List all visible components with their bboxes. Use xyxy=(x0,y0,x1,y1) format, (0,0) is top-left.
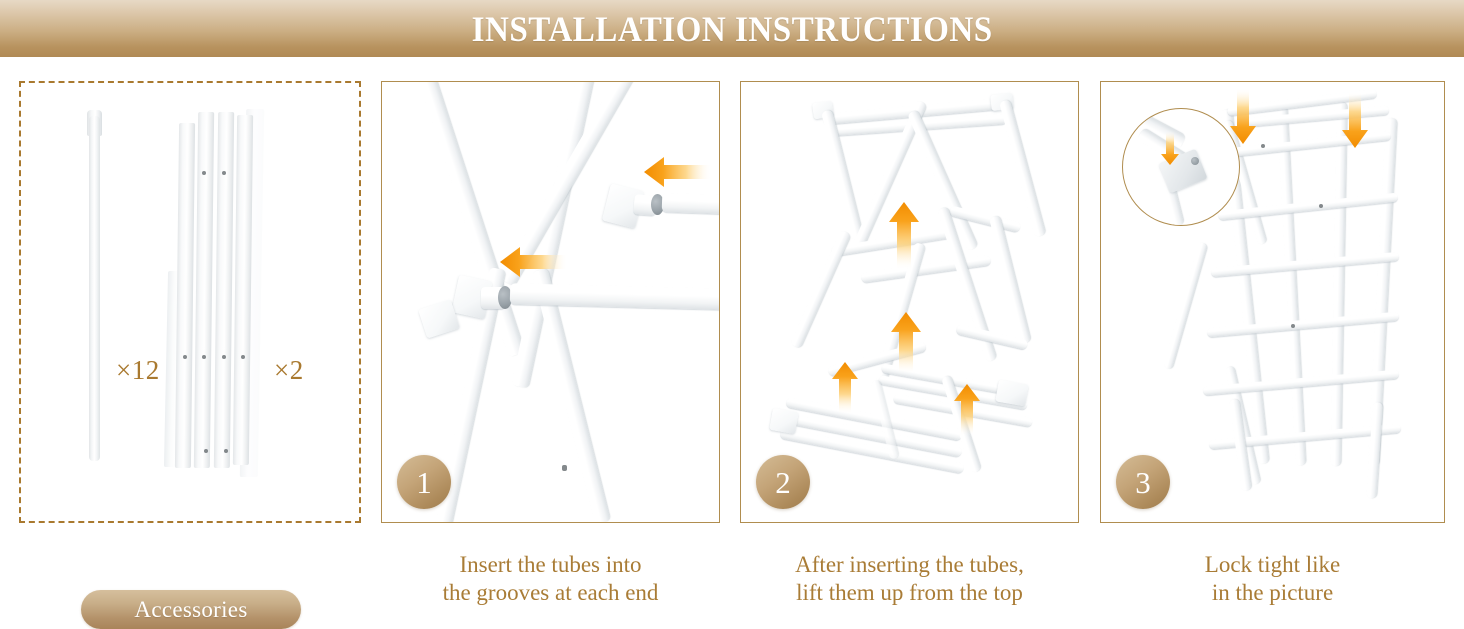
step-1-caption-line-1: Insert the tubes into xyxy=(381,551,720,579)
step-2-number: 2 xyxy=(775,467,791,498)
drying-bar xyxy=(1207,312,1399,338)
insert-tube xyxy=(662,193,720,214)
step-1-number: 1 xyxy=(416,467,432,498)
accessories-button-label: Accessories xyxy=(134,597,247,623)
arrow-left-icon xyxy=(500,245,568,279)
frame-joint xyxy=(769,408,798,434)
scissor-arm xyxy=(999,99,1046,237)
scissor-arm xyxy=(989,215,1031,344)
step-2-image: 2 xyxy=(740,81,1079,523)
frame-rivet xyxy=(562,465,567,471)
frame-rivet xyxy=(204,449,208,453)
step-1-image: 1 xyxy=(381,81,720,523)
folded-frame-part xyxy=(171,109,266,469)
frame-rivet xyxy=(202,355,206,359)
arrow-up-icon xyxy=(889,312,923,374)
page-title: INSTALLATION INSTRUCTIONS xyxy=(471,11,992,47)
frame-rivet xyxy=(1319,204,1323,208)
step-2-badge: 2 xyxy=(756,455,810,509)
step-1-caption-line-2: the grooves at each end xyxy=(381,579,720,607)
frame-rivet xyxy=(222,355,226,359)
scissor-arm xyxy=(1163,242,1207,369)
lock-joint-detail-inset xyxy=(1122,108,1240,226)
step-2-caption-line-2: lift them up from the top xyxy=(740,579,1079,607)
rack-leg xyxy=(1366,402,1383,498)
step-1-badge: 1 xyxy=(397,455,451,509)
step-1-caption: Insert the tubes into the grooves at eac… xyxy=(381,551,720,607)
arrow-up-icon xyxy=(887,202,921,270)
support-tube-part xyxy=(89,116,100,461)
step-3-badge: 3 xyxy=(1116,455,1170,509)
installation-instructions-page: INSTALLATION INSTRUCTIONS ×12 xyxy=(0,0,1464,600)
frame-rivet xyxy=(183,355,187,359)
frame-slat xyxy=(175,123,195,468)
arrow-down-icon xyxy=(1161,131,1179,165)
step-3-caption-line-2: in the picture xyxy=(1100,579,1445,607)
frame-rivet xyxy=(202,171,206,175)
step-1: 1 Insert the tubes into the grooves at e… xyxy=(381,81,720,523)
arrow-up-icon xyxy=(831,362,859,414)
step-3-caption-line-1: Lock tight like xyxy=(1100,551,1445,579)
arrow-down-icon xyxy=(1229,88,1257,144)
accessories-panel: ×12 ×2 xyxy=(19,81,361,523)
rack-upright xyxy=(1331,102,1347,466)
step-3-caption: Lock tight like in the picture xyxy=(1100,551,1445,607)
frame-rivet xyxy=(241,355,245,359)
step-3: 3 Lock tight like in the picture xyxy=(1100,81,1445,523)
arrow-down-icon xyxy=(1341,92,1369,148)
arrow-up-icon xyxy=(953,384,981,436)
frame-rivet xyxy=(1291,324,1295,328)
step-2-caption: After inserting the tubes, lift them up … xyxy=(740,551,1079,607)
scissor-arm xyxy=(790,230,851,349)
rack-cross-bar xyxy=(861,255,991,283)
arrow-left-icon xyxy=(644,155,712,189)
frame-rivet xyxy=(1261,144,1265,148)
support-tube-quantity: ×12 xyxy=(116,355,160,386)
frame-slat xyxy=(194,112,214,468)
step-2: 2 After inserting the tubes, lift them u… xyxy=(740,81,1079,523)
frame-rivet xyxy=(224,449,228,453)
accessories-illustration: ×12 ×2 xyxy=(21,83,359,521)
frame-rivet xyxy=(222,171,226,175)
panels-row: ×12 ×2 xyxy=(0,57,1464,600)
step-3-image: 3 xyxy=(1100,81,1445,523)
page-header: INSTALLATION INSTRUCTIONS xyxy=(0,0,1464,57)
frame-slat xyxy=(214,112,234,468)
rack-upright xyxy=(1277,105,1306,465)
lock-screw xyxy=(1191,157,1199,165)
folded-frame-quantity: ×2 xyxy=(274,355,304,386)
accessories-button[interactable]: Accessories xyxy=(81,590,301,629)
step-2-caption-line-1: After inserting the tubes, xyxy=(740,551,1079,579)
step-3-number: 3 xyxy=(1135,467,1151,498)
